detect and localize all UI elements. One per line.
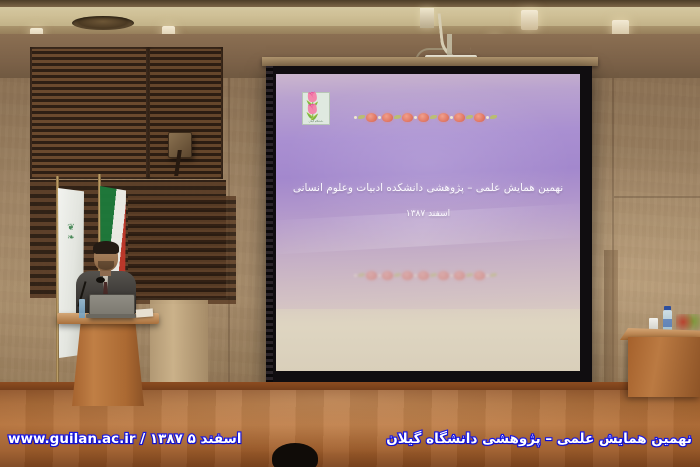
floral-ornament-bottom: [310, 266, 540, 284]
wooden-acoustic-panel: [30, 47, 148, 179]
slide-date: اسفند ۱۳۸۷: [276, 209, 580, 219]
ceiling-lamp: [521, 10, 538, 30]
water-bottle-icon: [79, 299, 85, 318]
screen-lower-band: [276, 309, 580, 371]
projection-screen: 🌷🌷 دانشگاه گیلان نهمین همایش علمی – پژوه…: [276, 74, 580, 371]
hanging-lamp: [420, 8, 434, 28]
side-table: [628, 337, 700, 397]
audience-member-silhouette: [272, 443, 318, 467]
microphone-icon: [96, 277, 105, 283]
ceiling-air-vent-icon: [72, 16, 134, 30]
bottle-label: [663, 319, 672, 327]
screen-headrail: [262, 57, 598, 66]
papers: [136, 308, 154, 317]
floral-ornament-top: [310, 108, 540, 126]
doorway-strip: [604, 250, 618, 392]
flower-arrangement: [676, 314, 700, 330]
conference-hall-photo: 🌷🌷 دانشگاه گیلان نهمین همایش علمی – پژوه…: [0, 0, 700, 467]
university-flag-emblem: ❦❧: [61, 222, 81, 284]
wooden-slat-wall: [128, 196, 236, 304]
podium: [72, 322, 144, 406]
ceiling-beam: [0, 0, 700, 7]
laptop-base: [86, 314, 136, 318]
eyeglasses-icon: [96, 253, 116, 258]
screen-sheen: [276, 200, 580, 256]
slide-title: نهمین همایش علمی – پژوهشی دانشکده ادبیات…: [276, 182, 580, 194]
wooden-acoustic-panel: [148, 47, 223, 179]
projector-mount: [447, 34, 452, 56]
wall-seam: [614, 196, 700, 198]
speaker-beard: [98, 261, 114, 270]
